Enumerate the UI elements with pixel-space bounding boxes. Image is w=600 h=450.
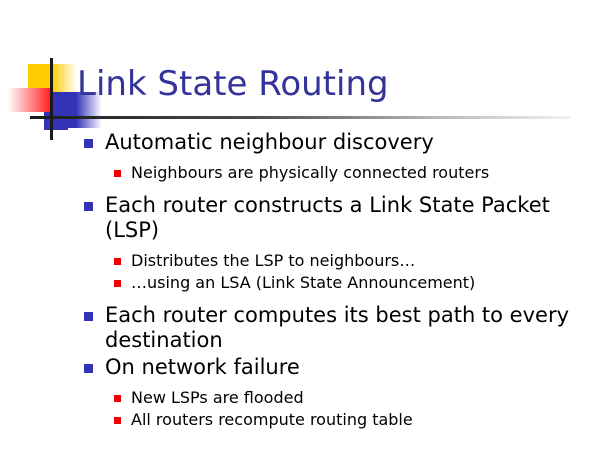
bullet-text: On network failure xyxy=(105,355,300,379)
decoration-blue-square xyxy=(52,92,76,128)
bullet-text: New LSPs are flooded xyxy=(131,388,304,407)
bullet-level2: …using an LSA (Link State Announcement) xyxy=(0,272,600,293)
square-bullet-icon xyxy=(114,395,121,402)
decoration-yellow-gradient xyxy=(52,64,77,92)
square-bullet-icon xyxy=(114,280,121,287)
square-bullet-icon xyxy=(84,139,93,148)
decoration-yellow-square xyxy=(28,64,52,92)
bullet-text: Each router computes its best path to ev… xyxy=(105,303,569,352)
decoration-vertical-line xyxy=(50,58,53,140)
bullet-text: Each router constructs a Link State Pack… xyxy=(105,193,550,242)
bullet-level1: Each router constructs a Link State Pack… xyxy=(0,193,600,243)
bullet-level2: Neighbours are physically connected rout… xyxy=(0,162,600,183)
bullet-text: All routers recompute routing table xyxy=(131,410,413,429)
square-bullet-icon xyxy=(84,312,93,321)
slide-title: Link State Routing xyxy=(77,63,389,105)
decoration-blue-small-square xyxy=(44,112,68,130)
square-bullet-icon xyxy=(114,170,121,177)
slide-body: Automatic neighbour discovery Neighbours… xyxy=(0,130,600,431)
spacer xyxy=(0,184,600,193)
bullet-level2: Distributes the LSP to neighbours… xyxy=(0,250,600,271)
bullet-level1: On network failure xyxy=(0,355,600,380)
bullet-level2: All routers recompute routing table xyxy=(0,409,600,430)
bullet-text: …using an LSA (Link State Announcement) xyxy=(131,273,475,292)
bullet-text: Neighbours are physically connected rout… xyxy=(131,163,489,182)
bullet-level2: New LSPs are flooded xyxy=(0,387,600,408)
bullet-level1: Automatic neighbour discovery xyxy=(0,130,600,155)
bullet-text: Distributes the LSP to neighbours… xyxy=(131,251,415,270)
square-bullet-icon xyxy=(114,258,121,265)
square-bullet-icon xyxy=(84,202,93,211)
bullet-level1: Each router computes its best path to ev… xyxy=(0,303,600,353)
spacer xyxy=(0,294,600,303)
square-bullet-icon xyxy=(84,364,93,373)
presentation-slide: Link State Routing Automatic neighbour d… xyxy=(0,0,600,450)
square-bullet-icon xyxy=(114,417,121,424)
decoration-horizontal-rule xyxy=(30,116,571,119)
bullet-text: Automatic neighbour discovery xyxy=(105,130,434,154)
decoration-red-gradient xyxy=(8,88,52,112)
